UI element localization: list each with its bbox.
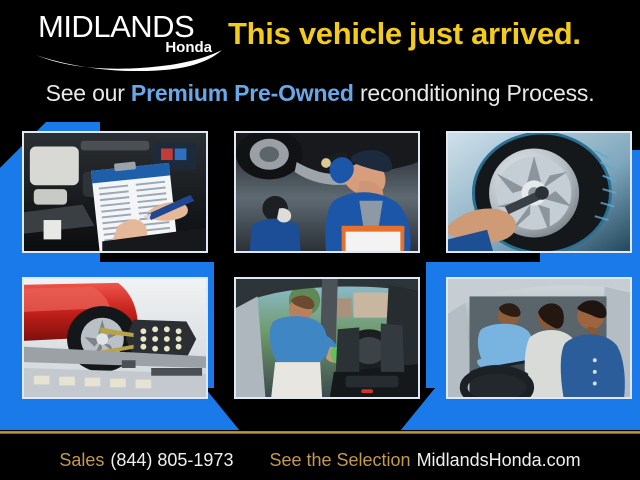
header: MIDLANDS Honda This vehiclejust arrived.… [0, 0, 640, 122]
website-link[interactable]: MidlandsHonda.com [417, 450, 581, 470]
see-the-selection-label: See the Selection [269, 450, 410, 470]
photo-customers-delivery[interactable] [446, 277, 632, 399]
photo-wheel-alignment[interactable] [22, 277, 208, 399]
photo-undercarriage-inspection[interactable] [234, 131, 420, 253]
headline-part-2: just arrived. [409, 16, 581, 51]
dealer-logo[interactable]: MIDLANDS Honda [38, 11, 218, 63]
subheadline-pre: See our [46, 80, 131, 106]
subheadline-post: reconditioning Process. [354, 80, 595, 106]
photo-interior-detailing[interactable] [234, 277, 420, 399]
footer: Sales(844) 805-1973See the SelectionMidl… [0, 448, 640, 480]
ad-creative: MIDLANDS Honda This vehiclejust arrived.… [0, 0, 640, 480]
subheadline: See our Premium Pre-Owned reconditioning… [0, 79, 640, 107]
subheadline-highlight: Premium Pre-Owned [131, 80, 354, 106]
headline-part-1: This vehicle [228, 16, 402, 51]
sales-label: Sales [59, 450, 104, 470]
page-title: This vehiclejust arrived. [228, 16, 581, 52]
photo-inspection-checklist[interactable] [22, 131, 208, 253]
photo-wheel-tire-service[interactable] [446, 131, 632, 253]
gold-divider-rule [0, 431, 640, 434]
swoosh-icon [34, 49, 224, 71]
sales-phone[interactable]: (844) 805-1973 [110, 450, 233, 470]
